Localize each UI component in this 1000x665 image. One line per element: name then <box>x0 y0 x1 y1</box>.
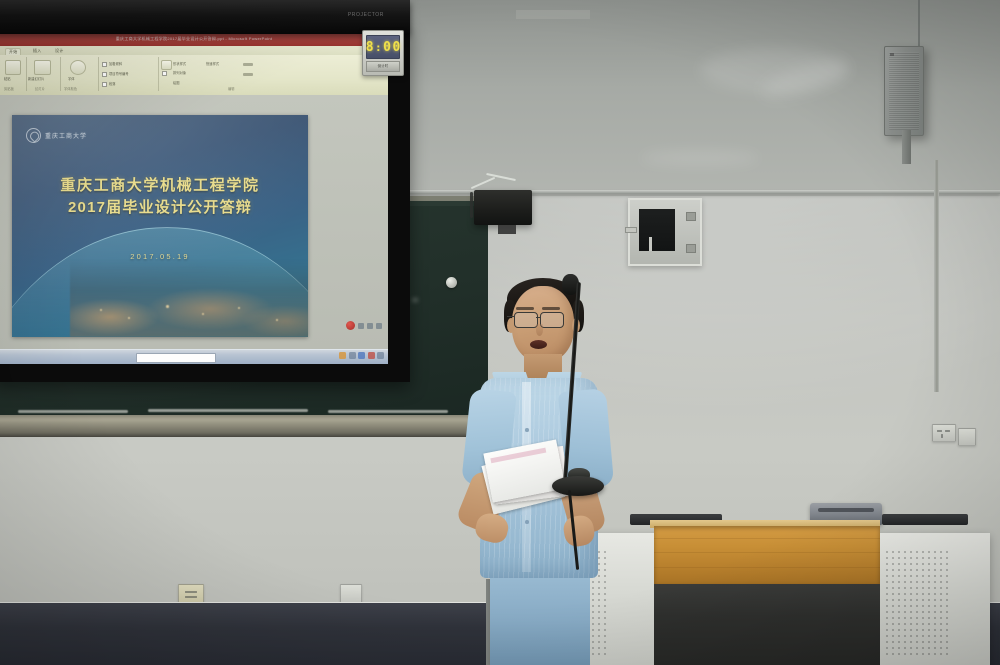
projection-screen: 重庆工商大学机械工程学院2017届毕业设计公开答辩.ppt - Microsof… <box>0 26 410 382</box>
outlet-slot <box>941 434 943 438</box>
city-light <box>100 309 102 311</box>
tab-insert[interactable]: 插入 <box>30 48 44 54</box>
volume-icon[interactable] <box>358 352 365 359</box>
checkbox-icon[interactable] <box>162 71 167 76</box>
ribbon-group-slides: 新建幻灯片 幻灯片 <box>26 57 61 91</box>
shield-icon[interactable] <box>339 352 346 359</box>
slide-title: 重庆工商大学机械工程学院 2017届毕业设计公开答辩 <box>12 175 308 219</box>
panel-hinge <box>686 244 696 253</box>
ribbon-group-caption: 幻灯片 <box>35 86 45 91</box>
roller-brand-label: PROJECTOR <box>348 12 384 18</box>
tab-design[interactable]: 设计 <box>52 48 66 54</box>
ppt-title-bar: 重庆工商大学机械工程学院2017届毕业设计公开答辩.ppt - Microsof… <box>0 34 388 46</box>
slide-cityscape-photo <box>70 259 308 337</box>
tool-icon[interactable] <box>376 323 382 329</box>
microphone-base <box>552 476 604 496</box>
lecture-hall-photo: PROJECTOR 重庆工商大学机械工程学院2017届毕业设计公开答辩.ppt … <box>0 0 1000 665</box>
city-light <box>166 305 169 308</box>
chalk-dust <box>18 410 128 413</box>
timer-digit-3: 0 <box>392 41 400 54</box>
record-icon[interactable] <box>346 321 355 330</box>
chalk-tray <box>0 415 488 437</box>
chalk-dust <box>328 410 448 413</box>
podium-desk <box>650 520 880 665</box>
power-outlet[interactable] <box>932 424 956 442</box>
university-logo-text: 重庆工商大学 <box>45 131 87 140</box>
outlet-slot <box>945 430 950 432</box>
ribbon-group-caption: 剪贴板 <box>4 86 14 91</box>
glasses-left-lens <box>514 312 538 328</box>
conduit-pipe <box>934 160 939 392</box>
ribbon-label: 新建幻灯片 <box>28 76 44 81</box>
checkbox-icon[interactable] <box>102 82 107 87</box>
speaker-grille <box>889 52 919 130</box>
panel-slit <box>649 237 652 251</box>
perforated-grille <box>884 549 950 657</box>
presenter-mouth <box>530 340 547 349</box>
paste-button[interactable] <box>5 60 21 75</box>
ppt-slide-stage: 重庆工商大学 重庆工商大学机械工程学院 2017届毕业设计公开答辩 2017.0… <box>0 95 388 350</box>
podium-microphone-bar-right <box>882 514 968 525</box>
tool-icon[interactable] <box>358 323 364 329</box>
ribbon-item-label: 快速样式 <box>206 61 219 66</box>
podium-front-panel <box>654 584 880 665</box>
ribbon-item-label: 形状样式 <box>173 61 186 66</box>
ribbon-label: 绘图 <box>173 80 180 85</box>
outlet-slot <box>185 591 197 593</box>
checkbox-icon[interactable] <box>102 62 107 67</box>
timer-digit-1: 8 <box>366 41 374 54</box>
ribbon-item-label: 排列对象 <box>173 70 186 75</box>
ribbon-label: 段落 <box>109 81 116 86</box>
university-logo: 重庆工商大学 <box>26 128 87 143</box>
ribbon-divider <box>243 73 253 76</box>
panel-latch <box>625 227 637 233</box>
timer-caption: 倒计时 <box>366 61 400 72</box>
university-emblem-icon <box>26 128 41 143</box>
presenter-nose <box>536 324 543 336</box>
ribbon-item-label: 字体颜色 <box>64 86 77 91</box>
font-color-button[interactable] <box>70 60 86 75</box>
network-icon[interactable] <box>349 352 356 359</box>
ppt-ribbon: 粘贴 剪贴板 新建幻灯片 幻灯片 字体 字体颜色 加粗倾斜 项目 <box>0 55 388 96</box>
cable <box>470 192 473 218</box>
shirt-button <box>525 428 529 432</box>
clock-icon[interactable] <box>377 352 384 359</box>
projection-surface: 重庆工商大学机械工程学院2017届毕业设计公开答辩.ppt - Microsof… <box>0 34 388 364</box>
ribbon-label: 编辑 <box>228 86 235 91</box>
slide-title-line1: 重庆工商大学机械工程学院 <box>12 175 308 197</box>
slide-title-line2: 2017届毕业设计公开答辩 <box>12 197 308 219</box>
windows-taskbar <box>0 349 388 364</box>
ribbon-group-drawing: 形状样式 快速样式 排列对象 绘图 编辑 <box>158 57 258 91</box>
ribbon-group-clipboard: 粘贴 剪贴板 <box>0 57 27 91</box>
shape-button[interactable] <box>161 60 172 70</box>
light-switch[interactable] <box>958 428 976 446</box>
tool-icon[interactable] <box>367 323 373 329</box>
city-light <box>128 317 130 319</box>
ribbon-group-font: 字体 字体颜色 <box>60 57 99 91</box>
outlet-slot <box>185 596 197 598</box>
outlet-slot <box>937 430 942 432</box>
podium-right-speaker-panel <box>870 533 990 665</box>
slide-corner-icons <box>346 321 382 330</box>
presenter-eyebrow <box>542 307 560 310</box>
tab-home[interactable]: 开始 <box>5 48 21 55</box>
av-box-mount <box>498 225 516 234</box>
ribbon-item-label: 加粗倾斜 <box>109 61 122 66</box>
access-panel-window <box>639 209 675 251</box>
ribbon-label: 粘贴 <box>4 76 11 81</box>
wall-speaker <box>884 46 924 136</box>
paper-highlight <box>490 448 546 464</box>
slide-date: 2017.05.19 <box>12 252 308 261</box>
timer-colon: : <box>375 42 382 53</box>
podium-wood-face <box>654 526 880 584</box>
glasses-arm <box>507 316 515 317</box>
av-control-box <box>474 190 532 225</box>
system-tray <box>339 352 384 359</box>
city-light <box>276 319 278 321</box>
presenter <box>452 278 622 665</box>
presentation-slide: 重庆工商大学 重庆工商大学机械工程学院 2017届毕业设计公开答辩 2017.0… <box>12 115 308 337</box>
timer-digit-2: 0 <box>383 41 391 54</box>
speaker-wire <box>918 0 920 52</box>
speaker-bracket <box>902 130 911 164</box>
shirt-button <box>525 520 529 524</box>
countdown-timer[interactable]: 8 : 0 0 倒计时 <box>362 30 404 76</box>
ribbon-item-label: 项目符号编号 <box>109 71 129 76</box>
chalk-mark <box>412 298 418 302</box>
chalk-dust <box>148 409 308 412</box>
wall-blemish <box>640 150 760 166</box>
laptop-screen-slot <box>818 508 874 512</box>
city-light <box>202 313 204 315</box>
search-input[interactable] <box>136 353 216 363</box>
new-slide-button[interactable] <box>34 60 51 75</box>
glasses-bridge <box>536 317 541 318</box>
glasses-right-lens <box>540 312 564 328</box>
ceiling-sign <box>516 10 590 19</box>
ime-icon[interactable] <box>368 352 375 359</box>
timer-display: 8 : 0 0 <box>366 35 400 59</box>
city-light <box>238 307 240 309</box>
projection-screen-roller: PROJECTOR <box>0 0 410 34</box>
presenter-eyebrow <box>516 307 534 310</box>
wall-access-panel <box>628 198 702 266</box>
ribbon-divider <box>243 63 253 66</box>
ribbon-label: 字体 <box>68 76 75 81</box>
ppt-title-text: 重庆工商大学机械工程学院2017届毕业设计公开答辩.ppt - Microsof… <box>116 36 273 42</box>
ribbon-group-paragraph: 加粗倾斜 项目符号编号 段落 <box>98 57 159 91</box>
checkbox-icon[interactable] <box>102 72 107 77</box>
presenter-lower-body <box>490 566 590 665</box>
speaker-led <box>890 53 894 56</box>
panel-hinge <box>686 212 696 221</box>
